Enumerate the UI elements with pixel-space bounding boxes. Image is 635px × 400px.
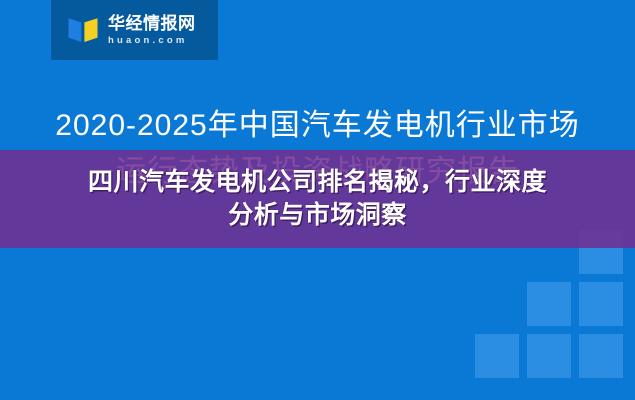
brand-name-cn: 华经情报网: [108, 15, 196, 32]
open-book-icon: [67, 15, 99, 45]
article-headline: 四川汽车发电机公司排名揭秘，行业深度 分析与市场洞察: [28, 166, 608, 232]
decorative-square: [475, 334, 519, 378]
brand-logo-panel: 华经情报网 huaon.com: [51, 0, 218, 60]
article-headline-line-1: 四川汽车发电机公司排名揭秘，行业深度: [88, 168, 547, 196]
brand-wordmark: 华经情报网 huaon.com: [108, 15, 196, 46]
article-headline-line-2: 分析与市场洞察: [228, 201, 407, 229]
decorative-square: [579, 334, 623, 378]
thumbnail-canvas: 2020-2025年中国汽车发电机行业市场 运行态势及投资战略研究报告 华经情报…: [0, 0, 635, 400]
overlay-band: 四川汽车发电机公司排名揭秘，行业深度 分析与市场洞察: [0, 150, 635, 248]
decorative-square: [579, 282, 623, 326]
poster-title-line-1: 2020-2025年中国汽车发电机行业市场: [0, 104, 635, 148]
brand-name-en: huaon.com: [108, 36, 196, 46]
decorative-square-grid: [471, 230, 623, 382]
decorative-square: [527, 334, 571, 378]
decorative-square: [527, 282, 571, 326]
